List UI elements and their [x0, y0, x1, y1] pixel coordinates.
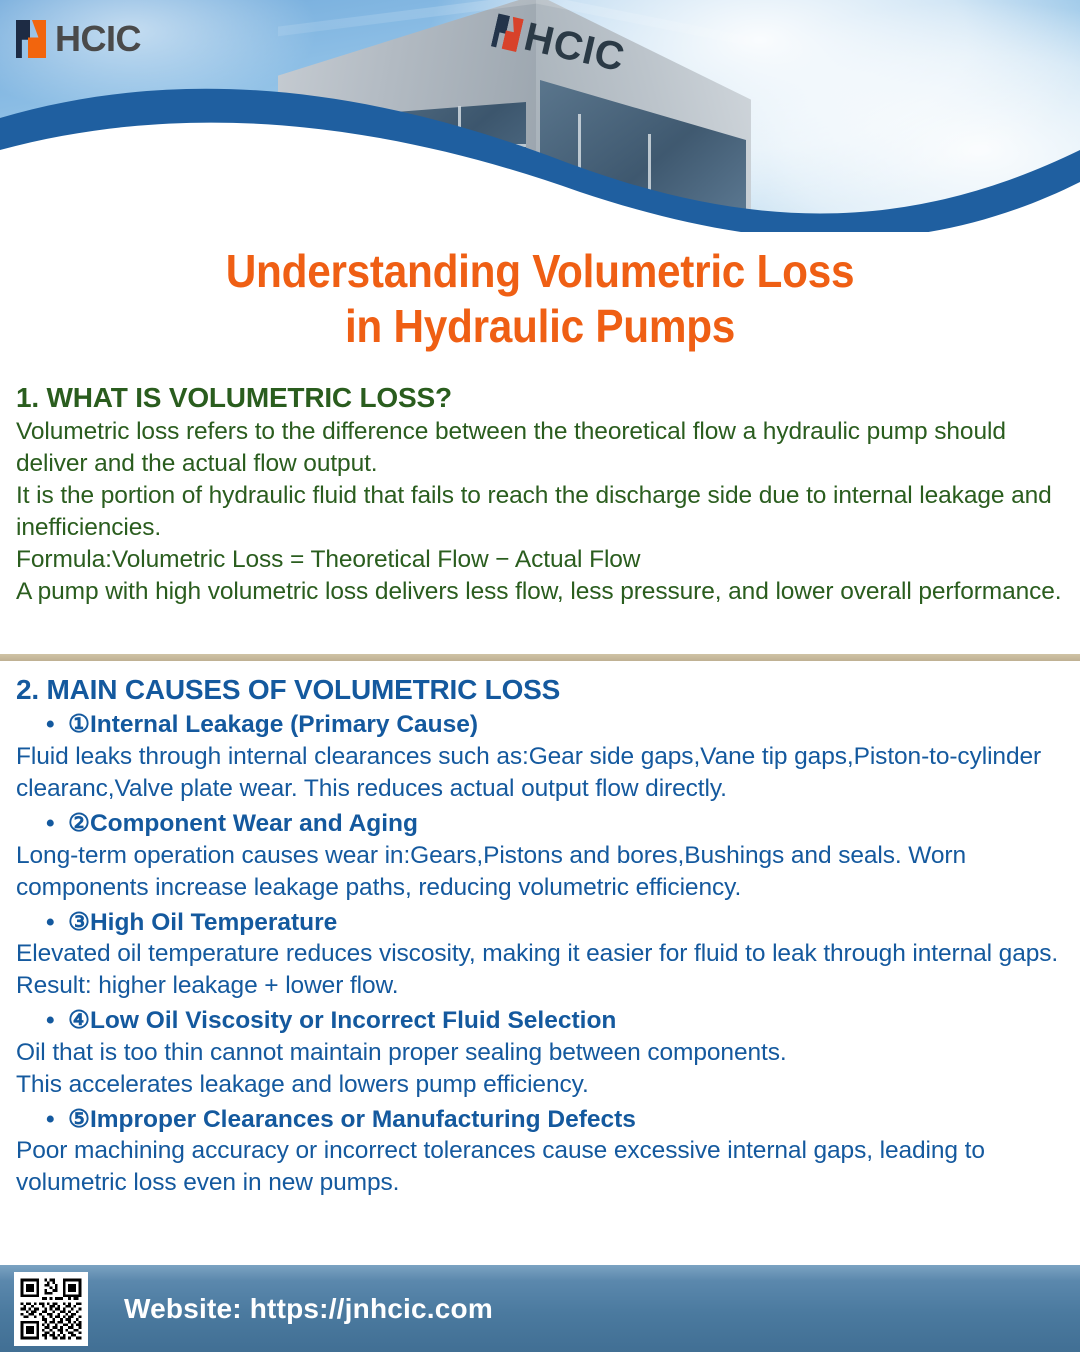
cause-body: Oil that is too thin cannot maintain pro…	[16, 1037, 1066, 1101]
wave-divider	[0, 0, 1080, 232]
cause-bullet: •②Component Wear and Aging	[16, 808, 1066, 840]
bullet-dot-icon: •	[46, 709, 68, 741]
page-title: Understanding Volumetric Loss in Hydraul…	[43, 244, 1037, 353]
page-title-line2: in Hydraulic Pumps	[43, 299, 1037, 354]
cause-body: Long-term operation causes wear in:Gears…	[16, 840, 1066, 904]
section1-paragraph: Formula:Volumetric Loss = Theoretical Fl…	[16, 544, 1066, 576]
cause-bullet: •③High Oil Temperature	[16, 907, 1066, 939]
cause-bullet: •⑤Improper Clearances or Manufacturing D…	[16, 1104, 1066, 1136]
section2-heading: 2. MAIN CAUSES OF VOLUMETRIC LOSS	[16, 674, 1066, 706]
section-what-is-volumetric-loss: 1. WHAT IS VOLUMETRIC LOSS? Volumetric l…	[16, 382, 1066, 608]
section1-paragraph: It is the portion of hydraulic fluid tha…	[16, 480, 1066, 544]
cause-body: Elevated oil temperature reduces viscosi…	[16, 938, 1066, 1002]
cause-bullet-label: ①Internal Leakage (Primary Cause)	[68, 711, 478, 738]
cause-bullet-label: ④Low Oil Viscosity or Incorrect Fluid Se…	[68, 1007, 616, 1034]
section1-paragraph: A pump with high volumetric loss deliver…	[16, 576, 1066, 608]
hcic-mark-icon	[16, 20, 46, 58]
cause-bullet-label: ③High Oil Temperature	[68, 909, 337, 936]
website-label[interactable]: Website: https://jnhcic.com	[124, 1293, 493, 1325]
bullet-dot-icon: •	[46, 1005, 68, 1037]
section-divider	[0, 654, 1080, 661]
cause-body: Fluid leaks through internal clearances …	[16, 741, 1066, 805]
cause-bullet-label: ②Component Wear and Aging	[68, 810, 418, 837]
cause-bullet-label: ⑤Improper Clearances or Manufacturing De…	[68, 1106, 636, 1133]
qr-code[interactable]	[14, 1272, 88, 1346]
page-title-line1: Understanding Volumetric Loss	[43, 244, 1037, 299]
cause-bullet: •①Internal Leakage (Primary Cause)	[16, 709, 1066, 741]
brand-logo-text: HCIC	[55, 18, 141, 60]
bullet-dot-icon: •	[46, 1104, 68, 1136]
footer-bar: Website: https://jnhcic.com	[0, 1263, 1080, 1352]
bullet-dot-icon: •	[46, 808, 68, 840]
brand-logo: HCIC	[16, 18, 141, 60]
bullet-dot-icon: •	[46, 907, 68, 939]
cause-bullet: •④Low Oil Viscosity or Incorrect Fluid S…	[16, 1005, 1066, 1037]
section1-paragraph: Volumetric loss refers to the difference…	[16, 416, 1066, 480]
qr-code-icon	[18, 1276, 84, 1342]
section-main-causes: 2. MAIN CAUSES OF VOLUMETRIC LOSS •①Inte…	[16, 674, 1066, 1199]
header-banner: HCIC HCIC	[0, 0, 1080, 232]
cause-body: Poor machining accuracy or incorrect tol…	[16, 1135, 1066, 1199]
section1-heading: 1. WHAT IS VOLUMETRIC LOSS?	[16, 382, 1066, 414]
